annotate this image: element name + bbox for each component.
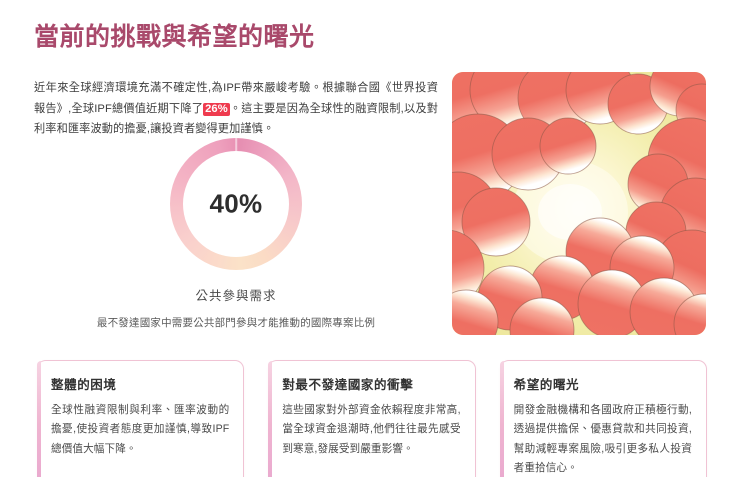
intro-highlight-value: 26% (203, 103, 230, 116)
slide-root: 當前的挑戰與希望的曙光 近年來全球經濟環境充滿不確定性,為IPF帶來嚴峻考驗。根… (0, 0, 740, 477)
card-body: 這些國家對外部資金依賴程度非常高,當全球資金退潮時,他們往往最先感受到寒意,發展… (282, 401, 460, 459)
insight-card: 整體的困境 全球性融資限制與利率、匯率波動的擔憂,使投資者態度更加謹慎,導致IP… (37, 360, 244, 477)
insight-cards: 整體的困境 全球性融資限制與利率、匯率波動的擔憂,使投資者態度更加謹慎,導致IP… (37, 360, 707, 477)
card-body: 全球性融資限制與利率、匯率波動的擔憂,使投資者態度更加謹慎,導致IPF總價值大幅… (51, 401, 229, 459)
donut-segment-divider (235, 138, 237, 152)
insight-card: 希望的曙光 開發金融機構和各國政府正積極行動,透過提供擔保、優惠貸款和共同投資,… (500, 360, 707, 477)
donut-chart-section: 40% 公共參與需求 最不發達國家中需要公共部門參與才能推動的國際專案比例 (34, 138, 438, 330)
card-body: 開發金融機構和各國政府正積極行動,透過提供擔保、優惠貸款和共同投資,幫助減輕專案… (514, 401, 692, 477)
sunrise-clouds-illustration (452, 72, 706, 335)
donut-chart: 40% (170, 138, 302, 270)
card-title: 希望的曙光 (514, 374, 692, 393)
card-title: 對最不發達國家的衝擊 (282, 374, 460, 393)
card-title: 整體的困境 (51, 374, 229, 393)
donut-center-value: 40% (210, 189, 263, 220)
chart-caption: 最不發達國家中需要公共部門參與才能推動的國際專案比例 (97, 315, 375, 330)
page-title: 當前的挑戰與希望的曙光 (34, 22, 315, 53)
clouds-illustration-svg (452, 72, 706, 335)
intro-paragraph: 近年來全球經濟環境充滿不確定性,為IPF帶來嚴峻考驗。根據聯合國《世界投資報告》… (34, 78, 438, 140)
insight-card: 對最不發達國家的衝擊 這些國家對外部資金依賴程度非常高,當全球資金退潮時,他們往… (268, 360, 475, 477)
chart-title: 公共參與需求 (195, 285, 276, 304)
